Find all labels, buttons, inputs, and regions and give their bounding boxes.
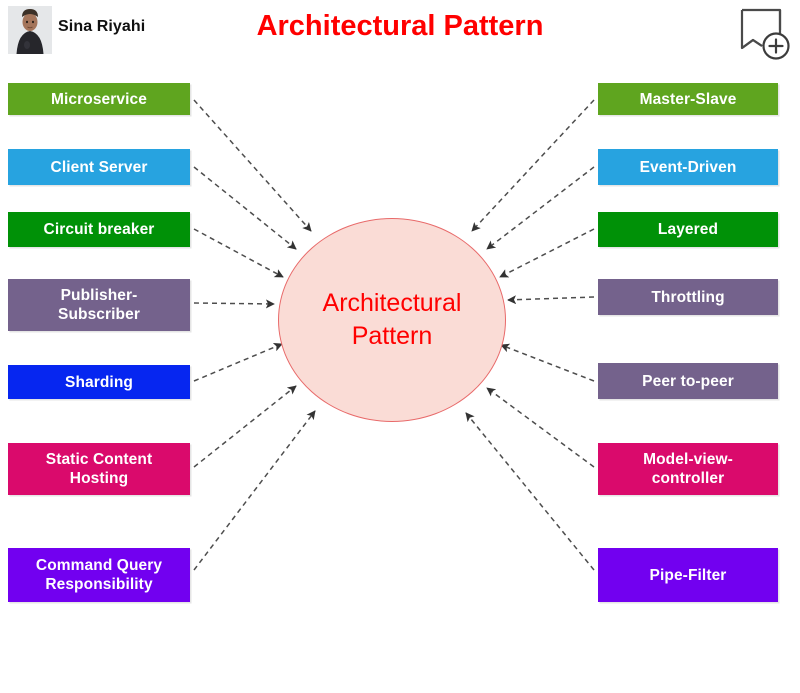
- node-model-view-controller[interactable]: Model-view- controller: [598, 443, 778, 495]
- node-sharding[interactable]: Sharding: [8, 365, 190, 399]
- node-label: Microservice: [51, 90, 147, 109]
- node-client-server[interactable]: Client Server: [8, 149, 190, 185]
- node-label: Client Server: [51, 158, 148, 177]
- center-node-label: Architectural Pattern: [323, 287, 462, 353]
- node-label: Circuit breaker: [44, 220, 155, 239]
- node-label: Master-Slave: [640, 90, 737, 109]
- node-label: Event-Driven: [640, 158, 737, 177]
- edge-event-driven: [487, 167, 594, 249]
- node-label: Peer to-peer: [642, 372, 734, 391]
- edge-publisher-subscriber: [194, 303, 274, 304]
- node-pipe-filter[interactable]: Pipe-Filter: [598, 548, 778, 602]
- edge-microservice: [194, 100, 311, 231]
- node-event-driven[interactable]: Event-Driven: [598, 149, 778, 185]
- edge-peer-to-peer: [501, 345, 594, 381]
- edge-circuit-breaker: [194, 229, 283, 277]
- node-label: Layered: [658, 220, 718, 239]
- edge-sharding: [194, 344, 282, 381]
- node-label: Model-view- controller: [643, 450, 733, 488]
- node-master-slave[interactable]: Master-Slave: [598, 83, 778, 115]
- node-circuit-breaker[interactable]: Circuit breaker: [8, 212, 190, 247]
- node-microservice[interactable]: Microservice: [8, 83, 190, 115]
- node-label: Pipe-Filter: [650, 566, 727, 585]
- node-layered[interactable]: Layered: [598, 212, 778, 247]
- edge-model-view-controller: [487, 388, 594, 467]
- node-command-query-responsibility[interactable]: Command Query Responsibility: [8, 548, 190, 602]
- node-publisher-subscriber[interactable]: Publisher- Subscriber: [8, 279, 190, 331]
- node-throttling[interactable]: Throttling: [598, 279, 778, 315]
- center-node-architectural-pattern[interactable]: Architectural Pattern: [278, 218, 506, 422]
- node-label: Static Content Hosting: [46, 450, 152, 488]
- architectural-pattern-diagram: Microservice Client Server Circuit break…: [0, 0, 800, 693]
- edge-layered: [500, 229, 594, 277]
- node-static-content-hosting[interactable]: Static Content Hosting: [8, 443, 190, 495]
- node-label: Sharding: [65, 373, 133, 392]
- node-label: Throttling: [651, 288, 724, 307]
- node-label: Command Query Responsibility: [36, 556, 162, 594]
- edge-client-server: [194, 167, 296, 249]
- edge-command-query: [194, 411, 315, 570]
- edge-pipe-filter: [466, 413, 594, 570]
- edge-master-slave: [472, 100, 594, 231]
- node-peer-to-peer[interactable]: Peer to-peer: [598, 363, 778, 399]
- node-label: Publisher- Subscriber: [58, 286, 140, 324]
- edge-throttling: [508, 297, 594, 300]
